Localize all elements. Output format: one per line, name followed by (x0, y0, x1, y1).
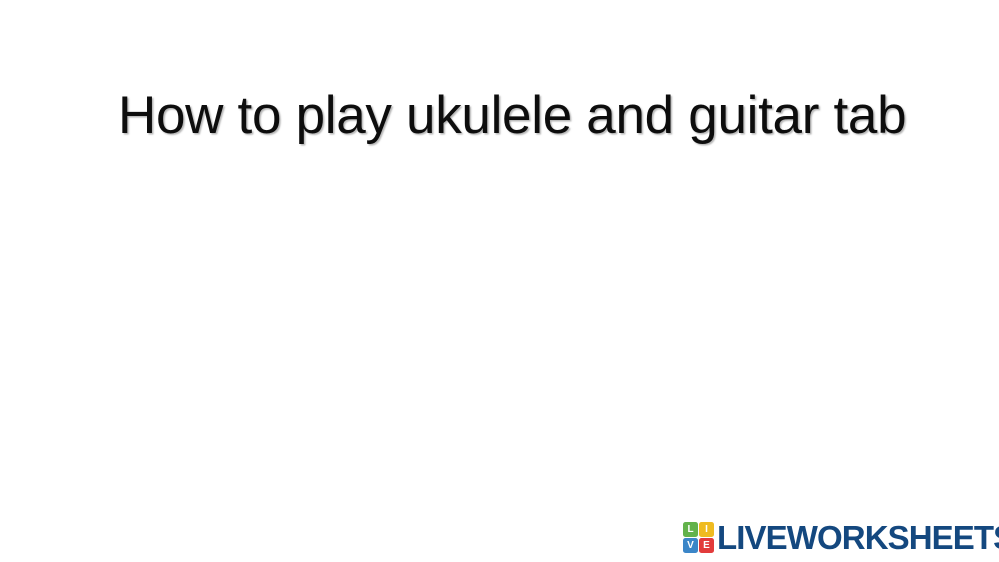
logo-mark: L I V E (683, 522, 714, 553)
page-title: How to play ukulele and guitar tab (118, 88, 888, 144)
logo-tile-i: I (699, 522, 714, 537)
logo-wordmark: LIVEWORKSHEETS (717, 521, 999, 554)
logo-tile-v: V (683, 538, 698, 553)
logo-tile-l: L (683, 522, 698, 537)
liveworksheets-logo: L I V E LIVEWORKSHEETS (683, 519, 999, 555)
logo-tile-e: E (699, 538, 714, 553)
worksheet-slide: How to play ukulele and guitar tab L I V… (0, 0, 999, 562)
